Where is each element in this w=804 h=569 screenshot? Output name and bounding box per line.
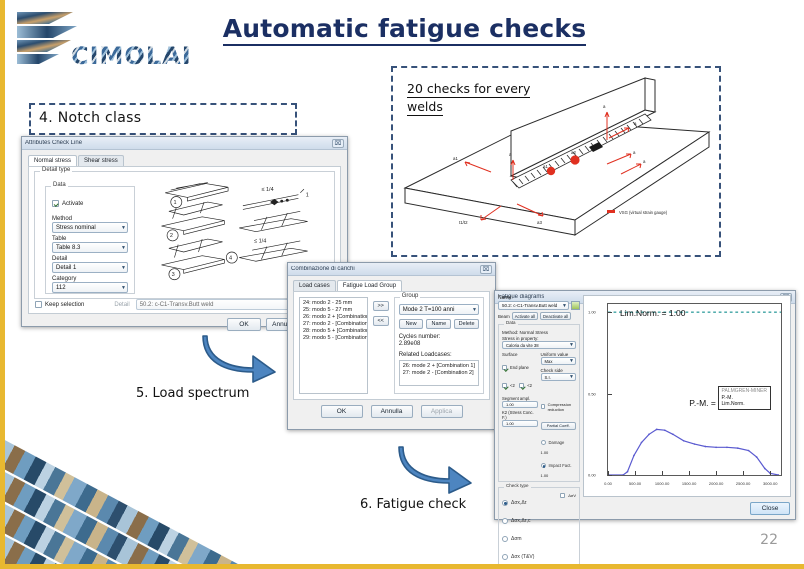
data-point bbox=[694, 443, 696, 445]
vsg-marker bbox=[547, 167, 555, 175]
fatigue-controls-panel: Name: 50.2: c-C1-Transv.Butt weld▼ Beam … bbox=[498, 295, 580, 499]
dialog-titlebar[interactable]: Combinazione di carichi ⌧ bbox=[288, 263, 495, 276]
cycles-label: Cycles number: bbox=[399, 334, 479, 340]
weld-note-line2: welds bbox=[407, 98, 443, 116]
detail-combo[interactable]: Detail 1▼ bbox=[52, 262, 128, 273]
x-axis-tick: 1000.00 bbox=[655, 481, 669, 486]
tab-load-cases[interactable]: Load cases bbox=[293, 280, 336, 291]
chevron-down-icon: ▼ bbox=[470, 307, 477, 313]
beam-label: Beam bbox=[498, 314, 510, 319]
ok-button[interactable]: OK bbox=[321, 405, 363, 418]
x-axis-tick-mark bbox=[716, 471, 717, 475]
category-value: 112 bbox=[56, 285, 66, 291]
delta-v-checkbox[interactable]: ΔσV bbox=[560, 493, 576, 498]
x-axis-tick-mark bbox=[743, 471, 744, 475]
compression-reduction-label: Compression reduction bbox=[548, 402, 576, 412]
svg-text:a1: a1 bbox=[453, 156, 458, 161]
checkbox-box bbox=[519, 383, 524, 388]
vsg-legend-swatch bbox=[607, 210, 615, 213]
check-side-value: S.I. bbox=[545, 375, 551, 380]
loadcase-listbox[interactable]: 24: modo 2 - 25 mm 25: modo 5 - 27 mm 26… bbox=[299, 297, 368, 394]
radio-dot bbox=[502, 536, 508, 542]
check-side-combo[interactable]: S.I.▼ bbox=[541, 373, 577, 381]
group-data: Data Method: Normal Stress Stress in pro… bbox=[498, 324, 580, 482]
x-axis-tick: 2000.00 bbox=[709, 481, 723, 486]
data-point bbox=[715, 446, 717, 448]
segment-value: 1.00 bbox=[506, 402, 514, 407]
name-group-button[interactable]: Name bbox=[426, 319, 451, 329]
vsg-marker bbox=[570, 155, 579, 164]
method-combo[interactable]: Stress nominal▼ bbox=[52, 222, 128, 233]
segment-field[interactable]: 1.00 bbox=[502, 401, 538, 408]
data-point bbox=[656, 429, 658, 431]
x-axis-tick: 0.00 bbox=[604, 481, 612, 486]
impact-value: 1.00 bbox=[541, 473, 577, 478]
deactivate-all-button[interactable]: Deactivate all bbox=[540, 312, 571, 320]
detail-field-label: Detail bbox=[114, 302, 129, 308]
keep-selection-checkbox[interactable]: Keep selection bbox=[35, 301, 84, 308]
data-point bbox=[726, 446, 728, 448]
y-axis-tick-mark bbox=[608, 394, 612, 395]
x-axis-tick-mark bbox=[635, 471, 636, 475]
list-item[interactable]: 24: modo 2 - 25 mm bbox=[303, 300, 364, 307]
list-item[interactable]: 28: modo 5 + [Combination 3] bbox=[303, 328, 364, 335]
stress-conc-value: 1.00 bbox=[506, 421, 514, 426]
sketch-annot-1: ≤ 1/4 bbox=[261, 187, 273, 193]
check-type-option[interactable]: Δσx,Δτ bbox=[502, 500, 527, 506]
sketch-annot-3: 1 bbox=[306, 193, 309, 199]
close-icon[interactable]: ⌧ bbox=[480, 265, 492, 274]
checkbox-box bbox=[502, 383, 507, 388]
x-axis-tick: 3000.00 bbox=[763, 481, 777, 486]
table-value: Table 8.3 bbox=[56, 245, 80, 251]
list-item[interactable]: 25: modo 5 - 27 mm bbox=[303, 307, 364, 314]
legend-entry: Lim.Norm. bbox=[722, 401, 767, 408]
chevron-down-icon: ▼ bbox=[119, 245, 126, 251]
flow-arrow-1 bbox=[201, 326, 281, 384]
chevron-down-icon: ▼ bbox=[119, 285, 126, 291]
uniform-value-combo[interactable]: Max▼ bbox=[541, 357, 577, 365]
svg-text:a3: a3 bbox=[537, 220, 542, 225]
stress-conc-field[interactable]: 1.00 bbox=[502, 420, 538, 427]
category-combo[interactable]: 112▼ bbox=[52, 282, 128, 293]
apply-button[interactable]: Applica bbox=[421, 405, 463, 418]
data-point bbox=[748, 450, 750, 452]
compression-reduction-checkbox[interactable]: Compression reduction bbox=[541, 402, 577, 412]
new-group-button[interactable]: New bbox=[399, 319, 424, 329]
list-item[interactable]: 27: mode 2 - [Combination 2] bbox=[403, 370, 475, 377]
radio-dot bbox=[502, 554, 508, 560]
sketch-number-1: 1 bbox=[174, 200, 177, 206]
properties-value: Caloria da vite 38 bbox=[506, 343, 539, 348]
sketch-number-4: 4 bbox=[229, 255, 232, 261]
data-point bbox=[737, 447, 739, 449]
y-axis-tick: 1.00 bbox=[588, 310, 596, 315]
name-value: 50.2: c-C1-Transv.Butt weld bbox=[502, 303, 557, 308]
flow-arrow-2 bbox=[397, 437, 477, 495]
data-point bbox=[764, 468, 766, 470]
sketch-annot-2: ≤ 1/4 bbox=[254, 239, 266, 245]
chevron-down-icon: ▼ bbox=[560, 303, 567, 309]
list-item[interactable]: 27: modo 2 - [Combination 2] bbox=[303, 321, 364, 328]
vsg-legend-label: VSG (virtual strain gauge) bbox=[619, 210, 668, 215]
list-item[interactable]: 26: mode 2 + [Combination 1] bbox=[403, 363, 475, 370]
chart-plot-area: 0.00500.001000.001500.002000.002500.0030… bbox=[607, 303, 782, 476]
logo-wordmark: CIMOLAI bbox=[71, 42, 192, 70]
weld-note-line1: 20 checks for every bbox=[407, 80, 530, 98]
method-label: Method: Normal Stress bbox=[502, 330, 576, 335]
check3-checkbox[interactable]: <2 bbox=[519, 383, 532, 388]
check2-checkbox[interactable]: <2 bbox=[502, 383, 515, 388]
series-palmgren-miner bbox=[608, 429, 778, 475]
cancel-button[interactable]: Annulla bbox=[371, 405, 413, 418]
data-point bbox=[704, 446, 706, 448]
group-panel: Group Mode 2 T=100 anni▼ New Name Delete… bbox=[394, 297, 484, 394]
annotation-lim-norm: Lim.Norm. = 1.00 bbox=[620, 308, 685, 318]
impact-label: Impact Fact. bbox=[549, 463, 572, 468]
decorative-photo-strips bbox=[5, 394, 267, 564]
series-palmgren-miner-markers bbox=[608, 429, 779, 475]
x-axis-tick: 1500.00 bbox=[682, 481, 696, 486]
fatigue-chart-panel: 0.00500.001000.001500.002000.002500.0030… bbox=[583, 295, 791, 497]
delta-v-label: ΔσV bbox=[568, 493, 576, 498]
chevron-down-icon: ▼ bbox=[567, 374, 574, 380]
radio-dot bbox=[541, 463, 546, 468]
endplane-checkbox[interactable]: End plane bbox=[502, 365, 529, 370]
keep-selection-label: Keep selection bbox=[45, 302, 84, 308]
slide-canvas: CIMOLAI Automatic fatigue checks 4. Notc… bbox=[0, 0, 804, 569]
partial-coeff-button[interactable]: Partial Coeff. bbox=[541, 422, 577, 430]
dialog-titlebar[interactable]: Attributes Check Line ⌧ bbox=[22, 137, 347, 150]
method-value: Stress nominal bbox=[56, 225, 96, 231]
check2-label: <2 bbox=[510, 383, 515, 388]
chart-legend: PALMGREN-MINER P.-M. Lim.Norm. bbox=[718, 386, 771, 410]
group-caption: Group bbox=[400, 293, 421, 299]
y-axis-tick-mark bbox=[608, 475, 612, 476]
move-right-button[interactable]: >> bbox=[373, 301, 389, 311]
data-point bbox=[627, 471, 629, 473]
check-type-option[interactable]: Δσx,Δτ,c bbox=[502, 518, 531, 524]
name-combo[interactable]: 50.2: c-C1-Transv.Butt weld▼ bbox=[498, 301, 569, 310]
svg-text:a2: a2 bbox=[571, 150, 576, 155]
list-item[interactable]: 29: modo 5 - [Combination 4] bbox=[303, 335, 364, 342]
group-data-caption: Data bbox=[504, 320, 518, 325]
page-number: 22 bbox=[760, 532, 778, 548]
sketch-number-3: 3 bbox=[172, 272, 175, 278]
x-axis-tick: 2500.00 bbox=[736, 481, 750, 486]
impact-factor-radio[interactable]: Impact Fact. bbox=[541, 463, 572, 468]
tab-strip[interactable]: Normal stress Shear stress bbox=[28, 155, 341, 166]
dialog-load-combination[interactable]: Combinazione di carichi ⌧ Load cases Fat… bbox=[287, 262, 496, 430]
sketch-number-2: 2 bbox=[170, 233, 173, 239]
dialog-fatigue-diagrams[interactable]: Fatigue diagrams ⌧ Name: 50.2: c-C1-Tran… bbox=[494, 290, 796, 520]
svg-text:t1/t2: t1/t2 bbox=[459, 220, 468, 225]
chevron-down-icon: ▼ bbox=[567, 358, 574, 364]
close-button[interactable]: Close bbox=[750, 502, 790, 515]
damage-label: Damage bbox=[549, 440, 565, 445]
x-axis-tick-mark bbox=[662, 471, 663, 475]
related-loadcases-label: Related Loadcases: bbox=[399, 352, 479, 358]
surface-label: Surface bbox=[502, 352, 538, 357]
close-icon[interactable]: ⌧ bbox=[332, 139, 344, 148]
check3-label: <2 bbox=[527, 383, 532, 388]
radio-dot bbox=[502, 518, 508, 524]
activate-all-button[interactable]: Activate all bbox=[512, 312, 538, 320]
data-point bbox=[683, 440, 685, 442]
chevron-down-icon: ▼ bbox=[119, 265, 126, 271]
callout-notch-class-label: 4. Notch class bbox=[39, 110, 141, 126]
check-type-option[interactable]: Δσx (T&V) bbox=[502, 554, 534, 560]
checkbox-box bbox=[502, 365, 507, 370]
data-point bbox=[672, 433, 674, 435]
y-axis-tick: 0.50 bbox=[588, 391, 596, 396]
cycles-value: 2.89e08 bbox=[399, 341, 479, 347]
damage-value: 1.00 bbox=[541, 450, 577, 455]
y-axis-tick-mark bbox=[608, 312, 612, 313]
checkbox-box bbox=[35, 301, 42, 308]
callout-weld-diagram: a1 a1 a2 a a a a a3 t1/t2 a VSG (virtual… bbox=[391, 66, 721, 257]
checkbox-box bbox=[52, 200, 59, 207]
group-check-type: Check type Δσx,Δτ Δσx,Δτ,c Δσm Δσx (T&V)… bbox=[498, 487, 580, 569]
properties-combo[interactable]: Caloria da vite 38▼ bbox=[502, 341, 576, 349]
related-loadcases-listbox[interactable]: 26: mode 2 + [Combination 1] 27: mode 2 … bbox=[399, 360, 479, 386]
check-type-option[interactable]: Δσm bbox=[502, 536, 522, 542]
dialog-title: Attributes Check Line bbox=[25, 140, 82, 146]
activate-checkbox[interactable]: Activate bbox=[52, 200, 83, 207]
detail-value: Detail 1 bbox=[56, 265, 76, 271]
page-title-text: Automatic fatigue checks bbox=[223, 14, 587, 46]
uniform-value: Max bbox=[545, 359, 553, 364]
group-value: Mode 2 T=100 anni bbox=[403, 307, 455, 313]
tab-shear-stress[interactable]: Shear stress bbox=[78, 155, 124, 166]
damage-radio[interactable]: Damage bbox=[541, 440, 565, 445]
chevron-down-icon: ▼ bbox=[119, 225, 126, 231]
x-axis-tick-mark bbox=[689, 471, 690, 475]
data-point bbox=[664, 429, 666, 431]
group-detail-type-caption: Detail type bbox=[40, 167, 72, 173]
list-item[interactable]: 26: modo 2 + [Combination 1] bbox=[303, 314, 364, 321]
y-axis-tick: 0.00 bbox=[588, 473, 596, 478]
step-6-label: 6. Fatigue check bbox=[360, 497, 466, 512]
table-combo[interactable]: Table 8.3▼ bbox=[52, 242, 128, 253]
move-left-button[interactable]: << bbox=[373, 316, 389, 326]
tab-normal-stress[interactable]: Normal stress bbox=[28, 155, 77, 166]
weld-note: 20 checks for every welds bbox=[407, 80, 530, 116]
tab-fatigue-load-group[interactable]: Fatigue Load Group bbox=[337, 280, 402, 291]
pick-element-icon[interactable] bbox=[571, 301, 580, 310]
page-title: Automatic fatigue checks bbox=[5, 14, 804, 43]
data-point bbox=[633, 455, 635, 457]
svg-text:a1: a1 bbox=[543, 164, 548, 169]
tab-strip[interactable]: Load cases Fatigue Load Group bbox=[293, 280, 490, 291]
data-point bbox=[756, 456, 758, 458]
data-point bbox=[641, 442, 643, 444]
dialog-title: Combinazione di carichi bbox=[291, 266, 355, 272]
delete-group-button[interactable]: Delete bbox=[454, 319, 479, 329]
stress-conc-label: K2 (Stress Conc. F.) bbox=[502, 410, 538, 420]
detail-selected-value: 50.2: c-C1-Transv.Butt weld bbox=[140, 302, 214, 308]
x-axis-tick-mark bbox=[770, 471, 771, 475]
activate-label: Activate bbox=[62, 201, 83, 207]
data-point bbox=[648, 433, 650, 435]
legend-header: PALMGREN-MINER bbox=[722, 388, 767, 395]
callout-notch-class: 4. Notch class bbox=[29, 103, 297, 135]
radio-dot bbox=[502, 500, 508, 506]
checkbox-box bbox=[541, 404, 545, 409]
x-axis-tick: 500.00 bbox=[629, 481, 641, 486]
radio-dot bbox=[541, 440, 546, 445]
check-type-caption: Check type bbox=[504, 483, 531, 488]
group-combo[interactable]: Mode 2 T=100 anni▼ bbox=[399, 304, 479, 315]
endplane-label: End plane bbox=[510, 365, 529, 370]
checkbox-box bbox=[560, 493, 565, 498]
group-data-caption: Data bbox=[51, 182, 68, 188]
group-data: Data Activate Method Stress nominal▼ Tab… bbox=[45, 186, 135, 294]
chevron-down-icon: ▼ bbox=[567, 342, 574, 348]
